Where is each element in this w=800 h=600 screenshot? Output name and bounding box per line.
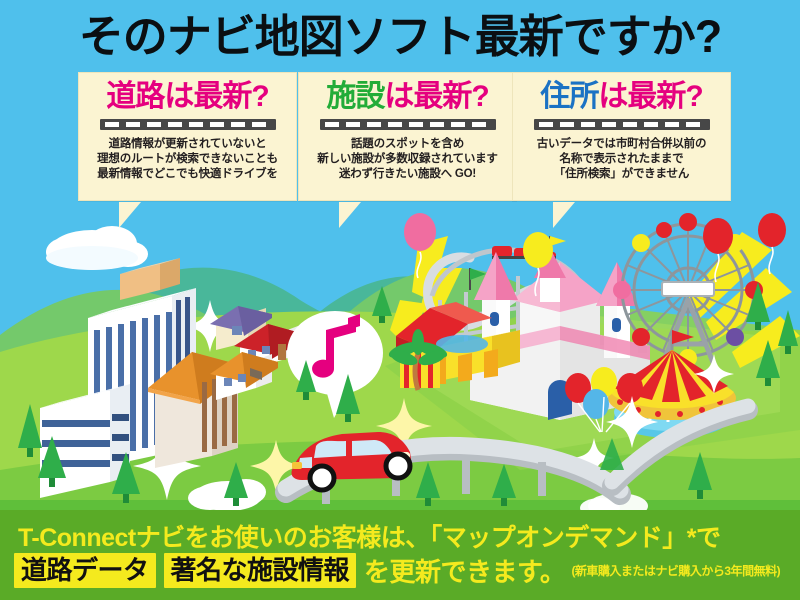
info-box-address-line-2: 名称で表示されたままで [513,152,730,167]
promo-banner-tail-text: を更新できます。 [364,552,565,589]
info-box-facility-title-head: 施設 [326,80,384,113]
info-box-facility-title: 施設は最新? [299,79,516,115]
info-box-facility-line-1: 話題のスポットを含め [299,137,516,152]
info-box-road-line-1: 道路情報が更新されていないと [79,137,296,152]
info-box-facility-line-2: 新しい施設が多数収録されています [299,152,516,167]
promo-banner: T-Connectナビをお使いのお客様は、「マップオンデマンド」*で 道路データ… [0,510,800,600]
promo-banner-line-2: 道路データ 著名な施設情報 を更新できます。 (新車購入またはナビ購入から3年間… [14,552,780,589]
info-box-facility: 施設は最新? 話題のスポットを含め 新しい施設が多数収録されています 迷わず行き… [298,72,517,201]
info-box-road-line-3: 最新情報でどこでも快適ドライブを [79,167,296,182]
page-title: そのナビ地図ソフト最新ですか? [0,8,800,66]
info-box-address-body: 古いデータでは市町村合併以前の 名称で表示されたままで 「住所検索」ができません [513,137,730,182]
info-box-address-tail [553,202,575,228]
advertisement-canvas: そのナビ地図ソフト最新ですか? 道路は最新? 道路情報が更新されていないと 理想… [0,0,800,600]
info-box-address-line-1: 古いデータでは市町村合併以前の [513,137,730,152]
info-box-address-title: 住所は最新? [513,79,730,115]
info-box-facility-line-3: 迷わず行きたい施設へ GO! [299,167,516,182]
promo-banner-footnote: (新車購入またはナビ購入から3年間無料) [571,562,780,579]
info-box-road-tail [119,202,141,228]
info-box-address-title-head: 住所 [540,80,598,113]
promo-banner-line-1: T-Connectナビをお使いのお客様は、「マップオンデマンド」*で [18,518,720,554]
info-box-address-title-rest: は最新? [598,80,702,113]
highlight-road-data: 道路データ [14,553,156,588]
info-box-road-line-2: 理想のルートが検索できないことも [79,152,296,167]
info-box-facility-title-rest: は最新? [384,80,488,113]
info-box-road-title-head: 道路 [106,80,164,113]
road-divider-icon [320,119,496,130]
info-box-address: 住所は最新? 古いデータでは市町村合併以前の 名称で表示されたままで 「住所検索… [512,72,731,201]
info-box-road: 道路は最新? 道路情報が更新されていないと 理想のルートが検索できないことも 最… [78,72,297,201]
info-box-facility-body: 話題のスポットを含め 新しい施設が多数収録されています 迷わず行きたい施設へ G… [299,137,516,182]
info-box-road-body: 道路情報が更新されていないと 理想のルートが検索できないことも 最新情報でどこで… [79,137,296,182]
road-divider-icon [100,119,276,130]
road-divider-icon [534,119,710,130]
info-box-facility-tail [339,202,361,228]
info-box-road-title-rest: は最新? [164,80,268,113]
info-box-road-title: 道路は最新? [79,79,296,115]
info-box-address-line-3: 「住所検索」ができません [513,167,730,182]
highlight-facility-info: 著名な施設情報 [164,553,357,588]
